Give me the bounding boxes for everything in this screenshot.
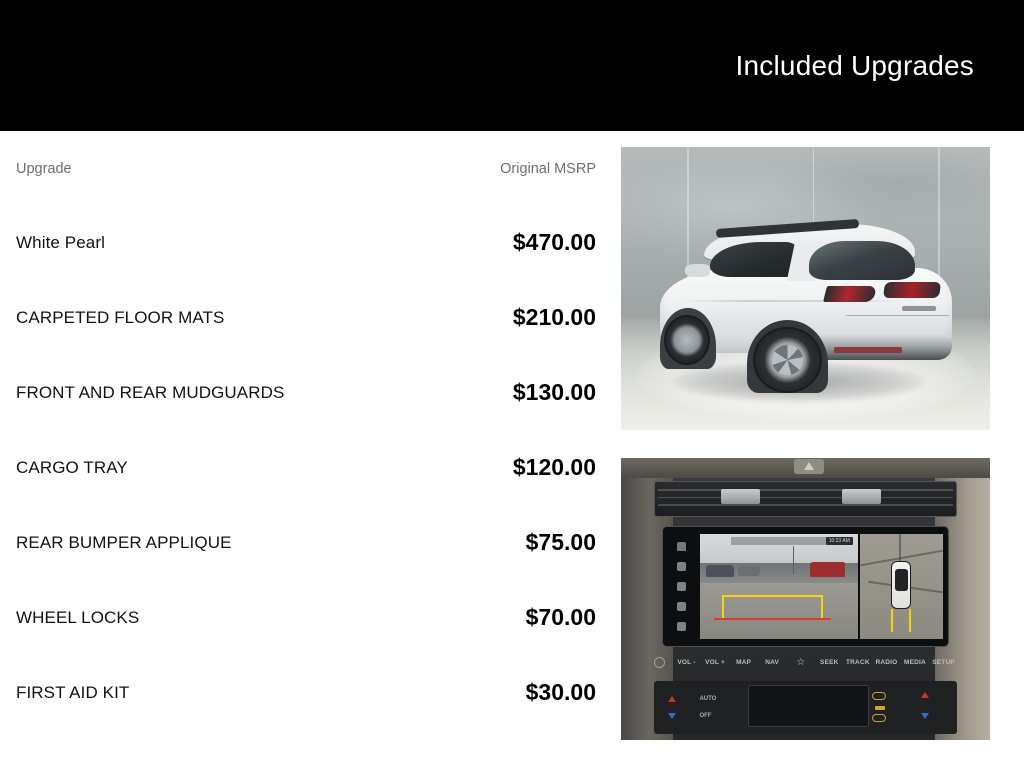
front-defrost-icon[interactable] bbox=[875, 706, 885, 710]
radio-button[interactable]: RADIO bbox=[873, 659, 900, 666]
volume-up-button[interactable]: VOL + bbox=[702, 659, 729, 666]
seat-icon[interactable] bbox=[677, 562, 686, 571]
vent-knob[interactable] bbox=[842, 489, 881, 504]
temp-down-icon[interactable] bbox=[921, 713, 929, 719]
upgrade-name: CARGO TRAY bbox=[16, 458, 128, 478]
map-button[interactable]: MAP bbox=[730, 659, 757, 666]
table-row: White Pearl $470.00 bbox=[16, 205, 596, 280]
vehicle-body bbox=[654, 221, 964, 402]
camera-timestamp: 10:23 AM bbox=[826, 537, 853, 545]
volume-down-button[interactable]: VOL - bbox=[673, 659, 700, 666]
vent-knob[interactable] bbox=[721, 489, 760, 504]
settings-icon[interactable] bbox=[677, 622, 686, 631]
seat-icon[interactable] bbox=[677, 602, 686, 611]
hazard-light-button[interactable] bbox=[794, 459, 824, 473]
upgrade-price: $130.00 bbox=[513, 379, 596, 406]
power-icon[interactable] bbox=[654, 657, 665, 668]
camera-light-pole bbox=[793, 546, 795, 573]
upgrade-name: REAR BUMPER APPLIQUE bbox=[16, 533, 232, 553]
climate-control-panel: AUTO OFF bbox=[654, 681, 957, 735]
climate-display bbox=[748, 685, 869, 727]
table-row: FRONT AND REAR MUDGUARDS $130.00 bbox=[16, 355, 596, 430]
infotainment-button-row: VOL - VOL + MAP NAV ☆ SEEK TRACK RADIO M… bbox=[654, 653, 957, 673]
vehicle-taillight-right bbox=[882, 282, 940, 298]
table-row: REAR BUMPER APPLIQUE $75.00 bbox=[16, 505, 596, 580]
vehicle-side-mirror bbox=[685, 264, 710, 277]
upgrade-price: $30.00 bbox=[526, 679, 596, 706]
upgrade-price: $75.00 bbox=[526, 529, 596, 556]
topdown-guideline-yellow bbox=[891, 609, 911, 632]
hazard-triangle-icon bbox=[804, 462, 814, 470]
table-row: CARGO TRAY $120.00 bbox=[16, 430, 596, 505]
upgrade-name: WHEEL LOCKS bbox=[16, 608, 139, 628]
windshield-defrost-icon[interactable] bbox=[872, 714, 886, 722]
seek-button[interactable]: SEEK bbox=[816, 659, 843, 666]
auto-button[interactable]: AUTO bbox=[699, 696, 716, 702]
table-row: CARPETED FLOOR MATS $210.00 bbox=[16, 280, 596, 355]
infotainment-screen[interactable]: 10:23 AM bbox=[662, 526, 950, 647]
vehicle-taillight-left bbox=[823, 286, 877, 302]
table-header-row: Upgrade Original MSRP bbox=[16, 161, 596, 177]
track-button[interactable]: TRACK bbox=[845, 659, 872, 666]
fan-down-icon[interactable] bbox=[668, 713, 676, 719]
vehicle-tailgate-seam bbox=[846, 315, 948, 317]
upgrade-price: $470.00 bbox=[513, 229, 596, 256]
air-vent-bar bbox=[654, 481, 957, 518]
seat-icon[interactable] bbox=[677, 582, 686, 591]
vehicle-rear-wheel bbox=[753, 327, 821, 392]
topdown-vehicle-roof bbox=[895, 569, 908, 590]
upgrades-rows: White Pearl $470.00 CARPETED FLOOR MATS … bbox=[16, 205, 596, 730]
vehicle-interior-photo[interactable]: 10:23 AM VOL - VOL + MAP NAV ☆ SE bbox=[621, 458, 990, 740]
parking-guideline-yellow bbox=[734, 595, 810, 596]
vent-slat bbox=[658, 504, 953, 506]
setup-button[interactable]: SETUP bbox=[930, 659, 957, 666]
column-header-upgrade: Upgrade bbox=[16, 161, 72, 177]
vehicle-bumper-reflector bbox=[834, 347, 902, 352]
fan-up-icon[interactable] bbox=[668, 696, 676, 702]
upgrade-name: White Pearl bbox=[16, 233, 105, 253]
vehicle-exterior-photo[interactable] bbox=[621, 147, 990, 430]
climate-left-controls: AUTO OFF bbox=[663, 686, 742, 729]
upgrades-page: Included Upgrades Upgrade Original MSRP … bbox=[0, 0, 1024, 768]
vehicle-rear-badge bbox=[902, 306, 936, 311]
camera-red-truck bbox=[810, 562, 845, 577]
upgrade-price: $70.00 bbox=[526, 604, 596, 631]
vent-slat bbox=[658, 489, 953, 491]
upgrade-name: FIRST AID KIT bbox=[16, 683, 129, 703]
column-header-original-msrp: Original MSRP bbox=[500, 161, 596, 177]
screen-side-rail bbox=[668, 536, 694, 636]
vent-slat bbox=[658, 497, 953, 499]
home-icon[interactable] bbox=[677, 542, 686, 551]
vehicle-front-wheel bbox=[664, 315, 710, 366]
camera-view-area: 10:23 AM bbox=[700, 534, 943, 639]
camera-parked-car bbox=[738, 566, 760, 575]
table-row: FIRST AID KIT $30.00 bbox=[16, 655, 596, 730]
star-favorite-icon[interactable]: ☆ bbox=[787, 657, 814, 668]
page-title: Included Upgrades bbox=[736, 50, 974, 82]
camera-parked-car bbox=[706, 565, 734, 577]
nav-button[interactable]: NAV bbox=[759, 659, 786, 666]
temp-up-icon[interactable] bbox=[921, 692, 929, 698]
upgrade-price: $210.00 bbox=[513, 304, 596, 331]
climate-right-controls bbox=[869, 685, 948, 730]
topdown-vehicle-icon bbox=[891, 561, 911, 609]
media-button[interactable]: MEDIA bbox=[902, 659, 929, 666]
page-header: Included Upgrades bbox=[0, 0, 1024, 131]
camera-overlay-bar bbox=[731, 537, 826, 545]
off-button[interactable]: OFF bbox=[699, 713, 711, 719]
rear-defrost-icon[interactable] bbox=[872, 692, 886, 700]
vehicle-rear-window bbox=[809, 241, 914, 281]
upgrade-name: CARPETED FLOOR MATS bbox=[16, 308, 224, 328]
parking-guideline-yellow bbox=[722, 595, 823, 618]
parking-guideline-red bbox=[714, 618, 831, 621]
rear-camera-view: 10:23 AM bbox=[700, 534, 858, 639]
surround-view-topdown bbox=[860, 534, 943, 639]
upgrades-table-panel: Upgrade Original MSRP White Pearl $470.0… bbox=[0, 131, 620, 768]
upgrade-name: FRONT AND REAR MUDGUARDS bbox=[16, 383, 284, 403]
table-row: WHEEL LOCKS $70.00 bbox=[16, 580, 596, 655]
upgrade-price: $120.00 bbox=[513, 454, 596, 481]
